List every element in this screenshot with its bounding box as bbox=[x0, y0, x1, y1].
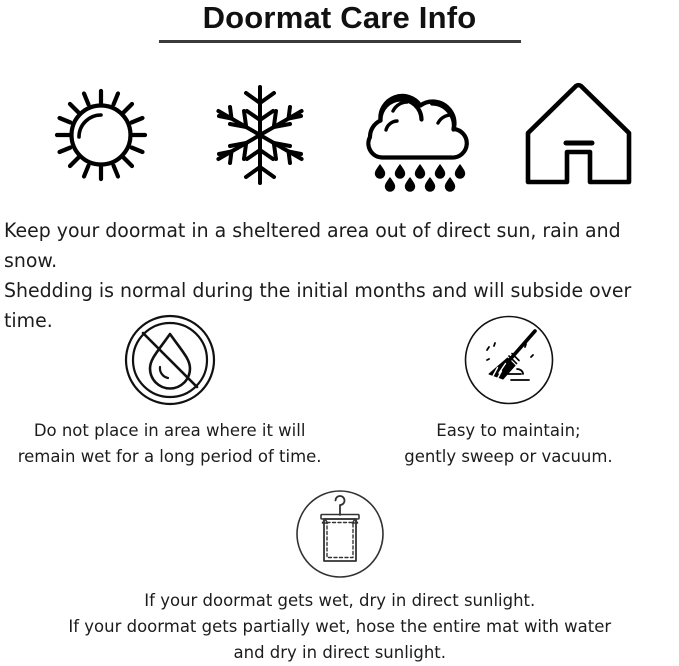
hang-dry-icon bbox=[294, 488, 386, 580]
dry-caption: If your doormat gets wet, dry in direct … bbox=[68, 588, 611, 666]
snowflake-icon bbox=[197, 72, 323, 198]
rain-cloud-icon bbox=[356, 72, 482, 198]
broom-sweep-icon bbox=[459, 310, 559, 410]
title-underline bbox=[159, 40, 521, 43]
care-caption-sweep: Easy to maintain; gently sweep or vacuum… bbox=[404, 418, 612, 470]
care-column-sweep: Easy to maintain; gently sweep or vacuum… bbox=[339, 310, 678, 470]
care-caption-no-water: Do not place in area where it will remai… bbox=[18, 418, 322, 470]
sun-icon bbox=[38, 72, 164, 198]
dry-section: If your doormat gets wet, dry in direct … bbox=[0, 488, 679, 666]
page-title: Doormat Care Info bbox=[0, 0, 679, 35]
care-column-no-water: Do not place in area where it will remai… bbox=[0, 310, 339, 470]
care-columns: Do not place in area where it will remai… bbox=[0, 310, 679, 470]
weather-icon-row bbox=[0, 72, 679, 198]
house-icon bbox=[515, 72, 641, 198]
no-water-icon bbox=[120, 310, 220, 410]
title-block: Doormat Care Info bbox=[0, 0, 679, 43]
